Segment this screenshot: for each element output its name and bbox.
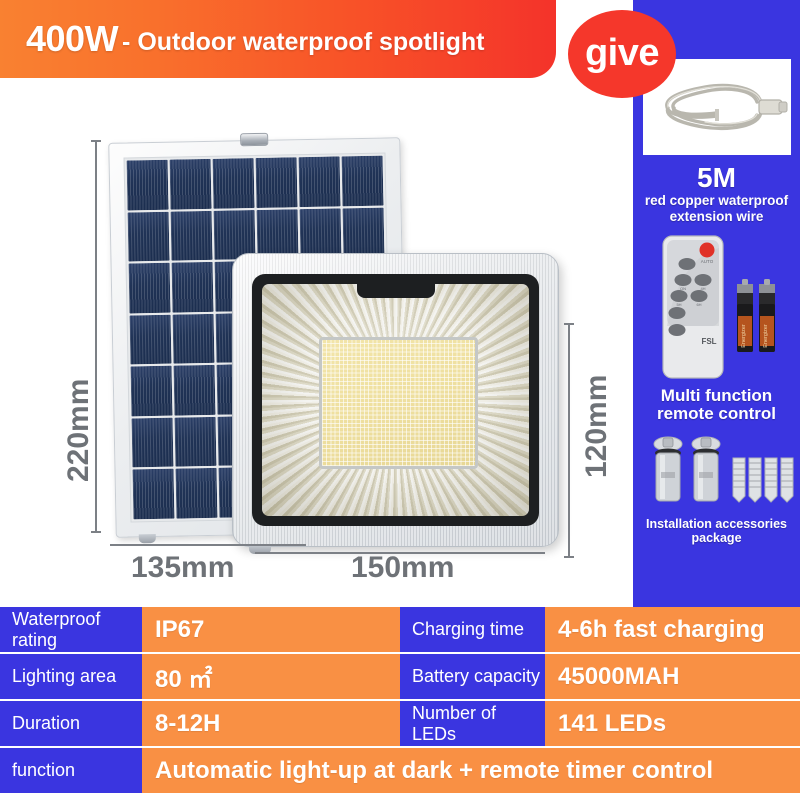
product-illustration: 220mm 135mm 150mm 120mm [0, 78, 633, 598]
dimension-line-panel-width [110, 544, 306, 546]
spec-table: Waterproof rating IP67 Charging time 4-6… [0, 607, 800, 793]
remote-control-icon: AUTO ON 4H 5H 6H FSL [633, 232, 800, 384]
dimension-label-panel-height: 220mm [62, 379, 96, 482]
gift-3-title-line2: package [691, 531, 741, 546]
spec-value: 141 LEDs [545, 701, 800, 746]
spec-label: Waterproof rating [0, 607, 142, 652]
header-banner: 400W- Outdoor waterproof spotlight [0, 0, 556, 78]
spec-row: Lighting area 80 ㎡ Battery capacity 4500… [0, 654, 800, 699]
spec-cell-group-right: Battery capacity 45000MAH [400, 654, 800, 699]
expansion-bolts-icon [633, 430, 800, 516]
spec-cell-group-left: Duration 8-12H [0, 701, 400, 746]
product-infographic: 400W- Outdoor waterproof spotlight give [0, 0, 800, 800]
dimension-label-light-width: 150mm [351, 551, 454, 585]
spec-row: Waterproof rating IP67 Charging time 4-6… [0, 607, 800, 652]
gift-1-desc-line1: red copper waterproof [643, 193, 790, 209]
dimension-tick-light-height-bottom [564, 556, 574, 558]
dimension-tick-light-height-top [564, 323, 574, 325]
led-floodlight [232, 253, 559, 547]
spec-cell-group-left: Lighting area 80 ㎡ [0, 654, 400, 699]
spec-value: IP67 [142, 607, 400, 652]
dimension-tick-panel-height-top [91, 140, 101, 142]
spec-label: Number of LEDs [400, 701, 545, 746]
dimension-label-panel-width: 135mm [131, 551, 234, 585]
dimension-label-light-height: 120mm [580, 375, 614, 478]
spec-value: 8-12H [142, 701, 400, 746]
spec-value: 80 ㎡ [142, 654, 400, 699]
spec-label: Charging time [400, 607, 545, 652]
gift-3-title-line1: Installation accessories [646, 517, 787, 532]
spec-cell-group-right: Number of LEDs 141 LEDs [400, 701, 800, 746]
dimension-line-light-height [568, 323, 570, 558]
spec-value: 45000MAH [545, 654, 800, 699]
floodlight-bezel [252, 274, 539, 526]
solar-panel-foot-left [139, 534, 156, 543]
spec-row: Duration 8-12H Number of LEDs 141 LEDs [0, 701, 800, 746]
svg-text:ON: ON [680, 286, 686, 291]
svg-text:6H: 6H [696, 302, 701, 307]
spec-label: Battery capacity [400, 654, 545, 699]
gift-side-panel: 5M red copper waterproof extension wire … [633, 0, 800, 607]
give-badge: give [568, 10, 676, 98]
svg-text:Energizer: Energizer [741, 324, 747, 348]
spec-label: Duration [0, 701, 142, 746]
dimension-tick-panel-height-bottom [91, 531, 101, 533]
give-badge-label: give [585, 34, 659, 72]
header-subtitle: - Outdoor waterproof spotlight [122, 28, 484, 56]
spec-label: function [0, 748, 142, 793]
spec-label: Lighting area [0, 654, 142, 699]
gift-1-desc-line2: extension wire [668, 209, 766, 225]
wattage-label: 400W [26, 18, 118, 59]
svg-text:Energizer: Energizer [763, 324, 769, 348]
svg-text:AUTO: AUTO [701, 259, 714, 264]
solar-panel-mount-clip [240, 133, 268, 147]
svg-text:4H: 4H [700, 286, 705, 291]
spec-value: Automatic light-up at dark + remote time… [142, 748, 800, 793]
floodlight-led-array [319, 337, 477, 469]
svg-text:5H: 5H [676, 302, 681, 307]
spec-cell-group-right: Charging time 4-6h fast charging [400, 607, 800, 652]
header-title: 400W- Outdoor waterproof spotlight [26, 18, 485, 60]
spec-cell-group-left: Waterproof rating IP67 [0, 607, 400, 652]
gift-2-title-line2: remote control [657, 404, 776, 424]
spec-value: 4-6h fast charging [545, 607, 800, 652]
spec-row-function: function Automatic light-up at dark + re… [0, 748, 800, 793]
svg-text:FSL: FSL [701, 337, 716, 346]
floodlight-top-notch [357, 283, 435, 298]
gift-1-title: 5M [697, 163, 736, 192]
